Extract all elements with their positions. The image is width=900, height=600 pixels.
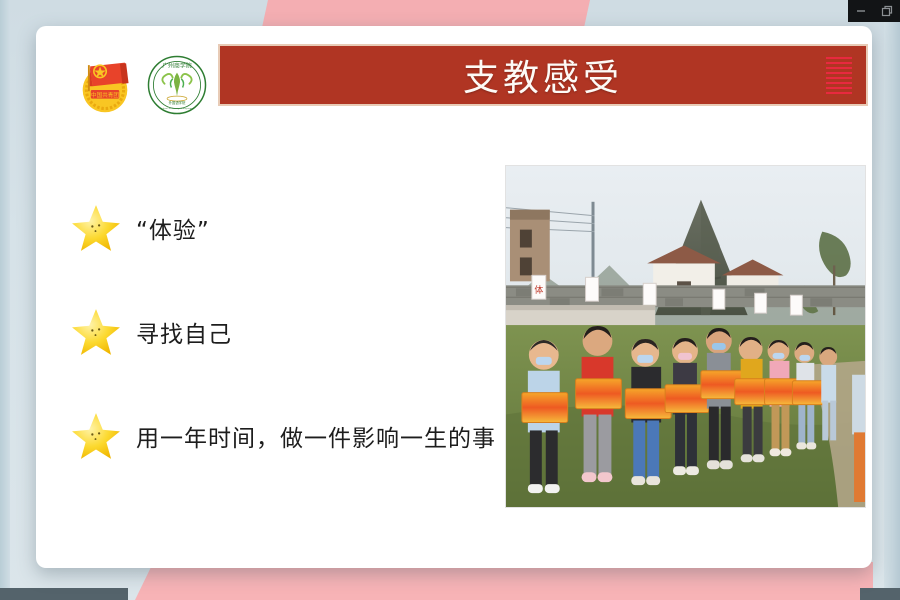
background-left-edge [0,0,10,600]
list-item-label: 寻找自己 [136,315,232,349]
list-item-label: “体验” [136,211,210,245]
svg-text:School of Foreign Languages: School of Foreign Languages [160,107,194,110]
restore-icon [880,4,894,18]
guangzhou-college-emblem-icon: 广州商学院 外国语学院 School of Foreign Languages [146,54,208,116]
star-icon [70,306,122,358]
restore-button[interactable] [878,2,896,20]
communist-youth-league-emblem-icon: 中国共青团 [74,54,136,116]
svg-text:体: 体 [534,284,543,296]
presentation-slide[interactable]: 中国共青团 广州商学院 外国语学院 School of Foreign Lang… [36,26,872,568]
background-bottom-left-notch [0,588,128,600]
screen: 中国共青团 广州商学院 外国语学院 School of Foreign Lang… [0,0,900,600]
list-item: 寻找自己 [70,280,500,384]
list-item-label: 用一年时间，做一件影响一生的事 [136,419,496,453]
logo-group: 中国共青团 广州商学院 外国语学院 School of Foreign Lang… [74,54,208,116]
page-title: 支教感受 [463,49,623,101]
bullet-list: “体验” 寻找自己 用一年时间，做一件影响一生的事 [70,176,500,488]
background-bottom-right-notch [860,588,900,600]
minimize-icon [854,4,868,18]
photo-illustration: 体 [506,166,865,507]
star-icon [70,410,122,462]
minimize-button[interactable] [852,2,870,20]
list-item: “体验” [70,176,500,280]
window-controls [848,0,900,22]
star-icon [70,202,122,254]
banner-stripe-decoration [826,57,852,97]
svg-text:外国语学院: 外国语学院 [169,100,186,105]
list-item: 用一年时间，做一件影响一生的事 [70,384,500,488]
teaching-support-group-photo[interactable]: 体 [505,165,866,508]
background-right-edge [884,0,900,600]
slide-title-banner: 支教感受 [218,44,868,106]
